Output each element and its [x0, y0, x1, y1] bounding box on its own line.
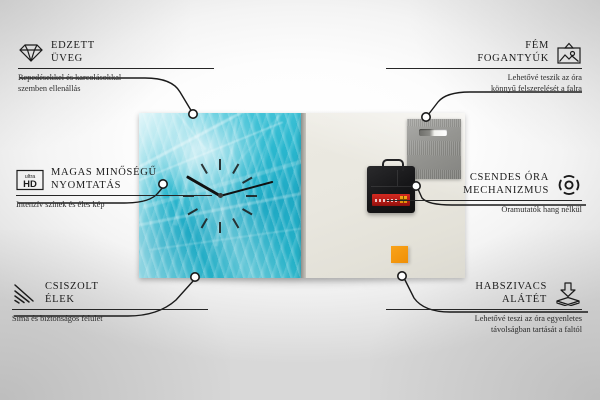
foam-pad: [391, 246, 408, 263]
gear-icon: [556, 173, 582, 197]
wall-mount-icon: [556, 42, 582, 64]
feature-description: Lehetővé teszik az óra könnyű felszerelé…: [386, 73, 582, 94]
feature-divider: [386, 309, 582, 310]
feature-header: EDZETT ÜVEG: [18, 40, 214, 65]
feature-title: FÉM FOGANTYÚK: [477, 40, 549, 65]
feature-divider: [12, 309, 208, 310]
feature-title: CSISZOLT ÉLEK: [45, 281, 99, 306]
feature-divider: [18, 68, 214, 69]
feature-header: CSISZOLT ÉLEK: [12, 281, 208, 306]
infographic-canvas: EDZETT ÜVEG Repedésekkel és karcolásokka…: [0, 0, 600, 400]
feature-foam-pad: HABSZIVACS ALÁTÉT Lehetővé teszi az óra …: [386, 281, 582, 335]
feature-header: ultra HD MAGAS MINŐSÉGŰ NYOMTATÁS: [16, 167, 212, 192]
svg-text:HD: HD: [23, 179, 37, 190]
feature-title: CSENDES ÓRA MECHANIZMUS: [463, 172, 549, 197]
panel-edge: [301, 113, 306, 278]
feature-title: MAGAS MINŐSÉGŰ NYOMTATÁS: [51, 167, 157, 192]
polished-edge-icon: [12, 283, 38, 305]
feature-tempered-glass: EDZETT ÜVEG Repedésekkel és karcolásokka…: [18, 40, 214, 94]
feature-description: Sima és biztonságos felület: [12, 314, 208, 325]
feature-title: HABSZIVACS ALÁTÉT: [475, 281, 547, 306]
feature-silent-mechanism: CSENDES ÓRA MECHANIZMUS Óramutatók hang …: [386, 172, 582, 216]
feature-description: Lehetővé teszi az óra egyenletes távolsá…: [386, 314, 582, 335]
feature-divider: [386, 200, 582, 201]
metal-hanger-plate: [407, 119, 461, 179]
feature-metal-handles: FÉM FOGANTYÚK Lehetővé teszik az óra kön…: [386, 40, 582, 94]
feature-divider: [16, 195, 212, 196]
feature-high-quality-print: ultra HD MAGAS MINŐSÉGŰ NYOMTATÁS Intenz…: [16, 167, 212, 211]
feature-description: Repedésekkel és karcolásokkal szemben el…: [18, 73, 214, 94]
feature-header: FÉM FOGANTYÚK: [386, 40, 582, 65]
feature-header: CSENDES ÓRA MECHANIZMUS: [386, 172, 582, 197]
movement-hanging-loop: [382, 159, 404, 171]
feature-header: HABSZIVACS ALÁTÉT: [386, 281, 582, 306]
ultra-hd-icon: ultra HD: [16, 169, 44, 191]
feature-description: Óramutatók hang nélkül: [386, 205, 582, 216]
feature-description: Intenzív színek és éles kép: [16, 200, 212, 211]
feature-title: EDZETT ÜVEG: [51, 40, 95, 65]
feature-polished-edges: CSISZOLT ÉLEK Sima és biztonságos felüle…: [12, 281, 208, 325]
feature-divider: [386, 68, 582, 69]
diamond-icon: [18, 43, 44, 63]
foam-pad-icon: [554, 282, 582, 306]
hanger-keyhole-slot: [419, 129, 447, 136]
connector-metal-handles: [428, 92, 582, 115]
